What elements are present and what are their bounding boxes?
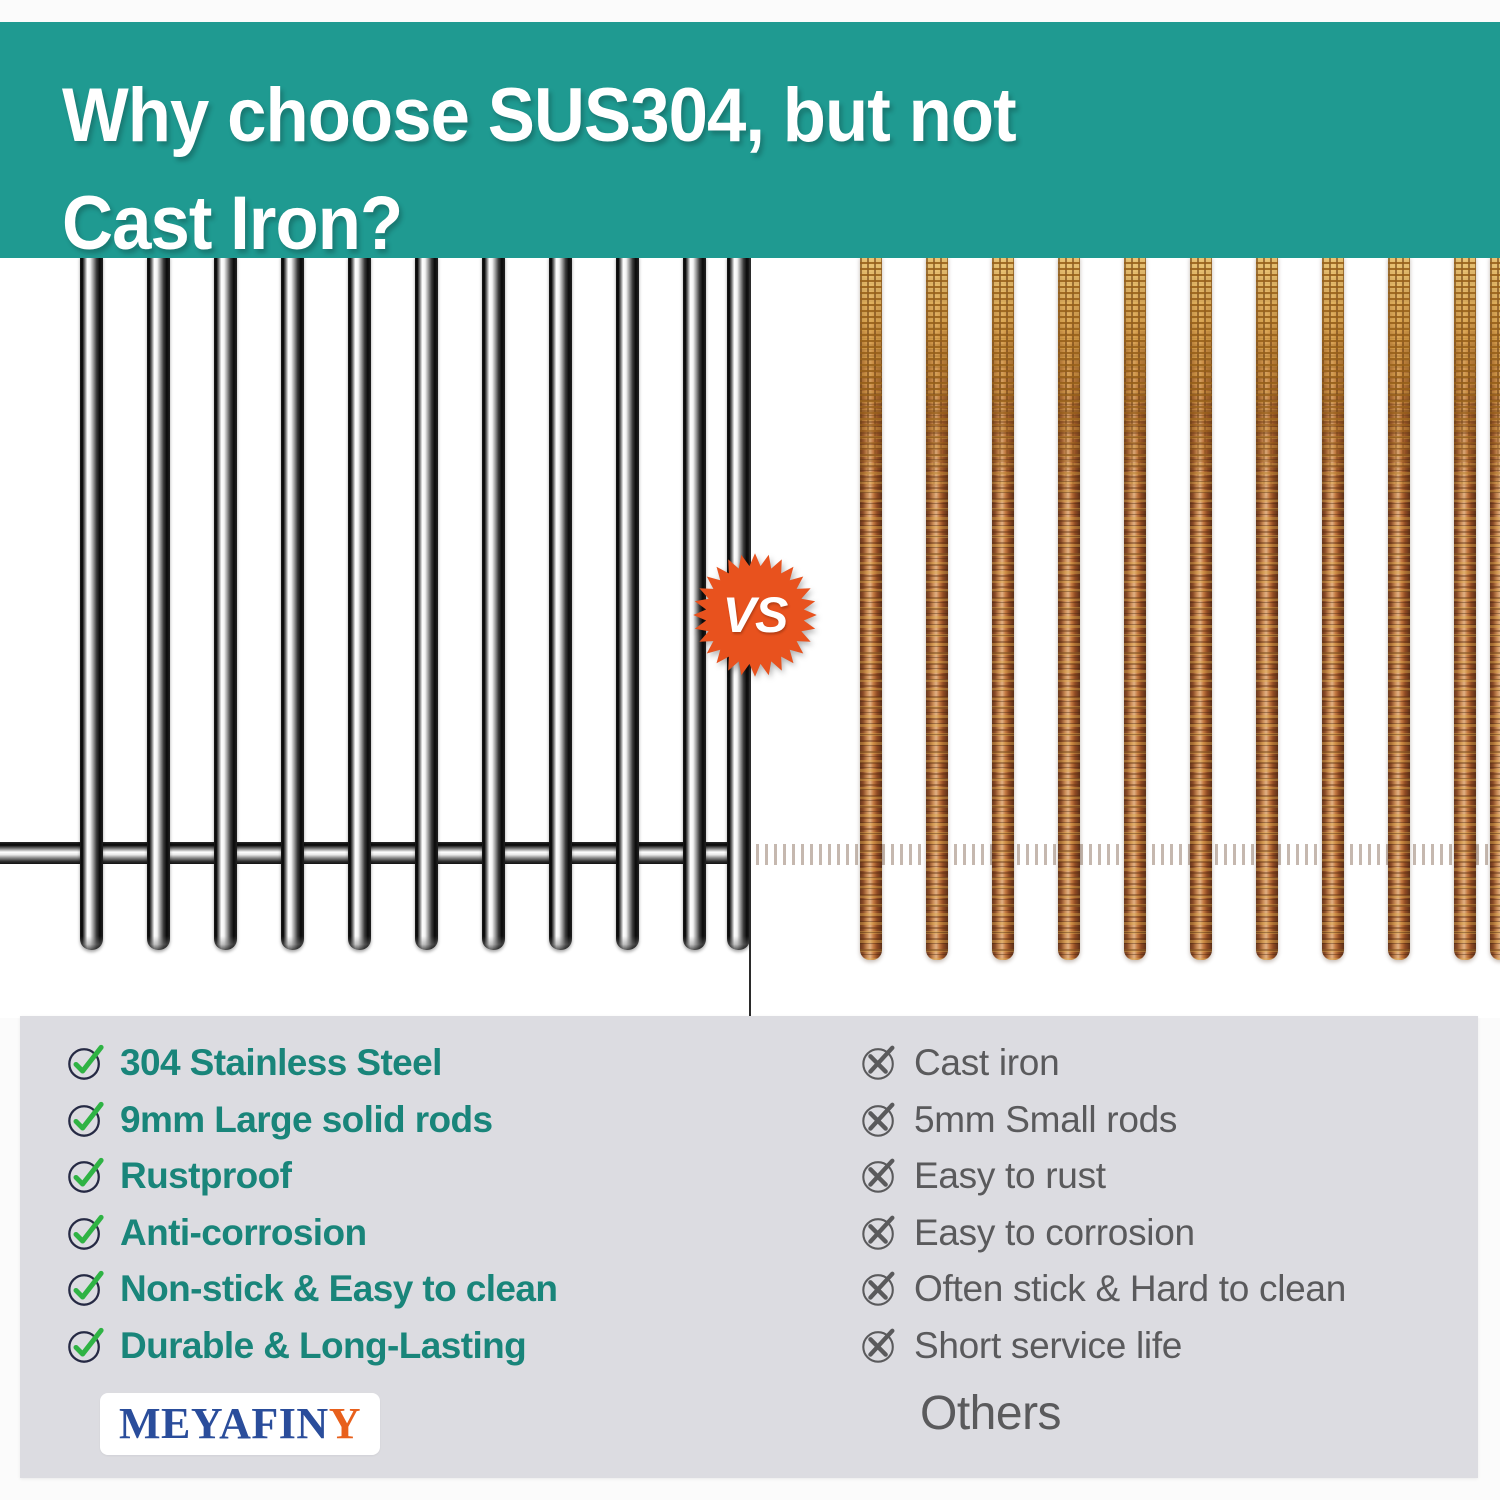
rusty-rod [992,258,1014,960]
pro-feature-label: Non-stick & Easy to clean [120,1269,557,1309]
header-banner: Why choose SUS304, but not Cast Iron? [0,22,1500,258]
rusty-rod [1124,258,1146,960]
con-feature-row: Short service life [860,1323,1182,1369]
rusty-rod [1190,258,1212,960]
steel-rod [549,258,572,950]
rusty-rod [926,258,948,960]
x-circle-icon [860,1101,898,1139]
pro-feature-row: 304 Stainless Steel [66,1040,442,1086]
steel-rod [80,258,103,950]
check-circle-icon [66,1270,104,1308]
con-feature-row: Cast iron [860,1040,1059,1086]
pro-feature-label: 9mm Large solid rods [120,1100,493,1140]
x-circle-icon [860,1157,898,1195]
pro-feature-row: Non-stick & Easy to clean [66,1266,557,1312]
x-circle-icon [860,1044,898,1082]
cast-iron-rusty-grate-image [750,258,1500,1018]
brand-logo: MEYAFINY [100,1393,380,1455]
check-circle-icon [66,1044,104,1082]
check-circle-icon [66,1157,104,1195]
x-circle-icon [860,1214,898,1252]
stainless-steel-grate-image [0,258,750,1018]
vs-badge: VS [692,552,818,678]
steel-rod [415,258,438,950]
check-circle-icon [66,1157,104,1195]
con-feature-row: 5mm Small rods [860,1097,1177,1143]
brand-logo-text: MEYAFINY [119,1402,361,1446]
rusty-rod [1490,258,1500,960]
pro-feature-label: Anti-corrosion [120,1213,366,1253]
x-circle-icon [860,1270,898,1308]
page-title: Why choose SUS304, but not Cast Iron? [62,62,1225,278]
con-feature-label: 5mm Small rods [914,1100,1177,1140]
steel-rod [281,258,304,950]
rusty-rod [1388,258,1410,960]
check-circle-icon [66,1214,104,1252]
check-circle-icon [66,1101,104,1139]
pro-feature-label: Rustproof [120,1156,291,1196]
con-feature-label: Easy to rust [914,1156,1106,1196]
rusty-rod [1058,258,1080,960]
steel-rod [616,258,639,950]
x-circle-icon [860,1270,898,1308]
x-circle-icon [860,1044,898,1082]
steel-rod [482,258,505,950]
steel-rod [348,258,371,950]
check-circle-icon [66,1327,104,1365]
x-circle-icon [860,1157,898,1195]
x-circle-icon [860,1214,898,1252]
rusty-rod [860,258,882,960]
check-circle-icon [66,1101,104,1139]
steel-rod [214,258,237,950]
con-feature-label: Short service life [914,1326,1182,1366]
x-circle-icon [860,1327,898,1365]
pro-feature-row: Anti-corrosion [66,1210,366,1256]
rusty-rod [1256,258,1278,960]
check-circle-icon [66,1327,104,1365]
pro-feature-row: Rustproof [66,1153,291,1199]
pro-feature-row: 9mm Large solid rods [66,1097,493,1143]
pro-feature-label: Durable & Long-Lasting [120,1326,526,1366]
check-circle-icon [66,1044,104,1082]
others-label: Others [920,1386,1061,1441]
con-feature-row: Often stick & Hard to clean [860,1266,1346,1312]
con-feature-row: Easy to rust [860,1153,1106,1199]
rusty-rod [1322,258,1344,960]
vs-badge-label: VS [692,552,818,678]
rusty-rod [1454,258,1476,960]
check-circle-icon [66,1270,104,1308]
steel-rod [147,258,170,950]
x-circle-icon [860,1101,898,1139]
brand-name-main: MEYAFIN [119,1399,329,1448]
con-feature-row: Easy to corrosion [860,1210,1195,1256]
check-circle-icon [66,1214,104,1252]
pro-feature-label: 304 Stainless Steel [120,1043,442,1083]
con-feature-label: Easy to corrosion [914,1213,1195,1253]
x-circle-icon [860,1327,898,1365]
pro-feature-row: Durable & Long-Lasting [66,1323,526,1369]
con-feature-label: Often stick & Hard to clean [914,1269,1346,1309]
con-feature-label: Cast iron [914,1043,1059,1083]
product-comparison-infographic: Why choose SUS304, but not Cast Iron? [0,0,1500,1500]
brand-name-tail: Y [329,1399,361,1448]
